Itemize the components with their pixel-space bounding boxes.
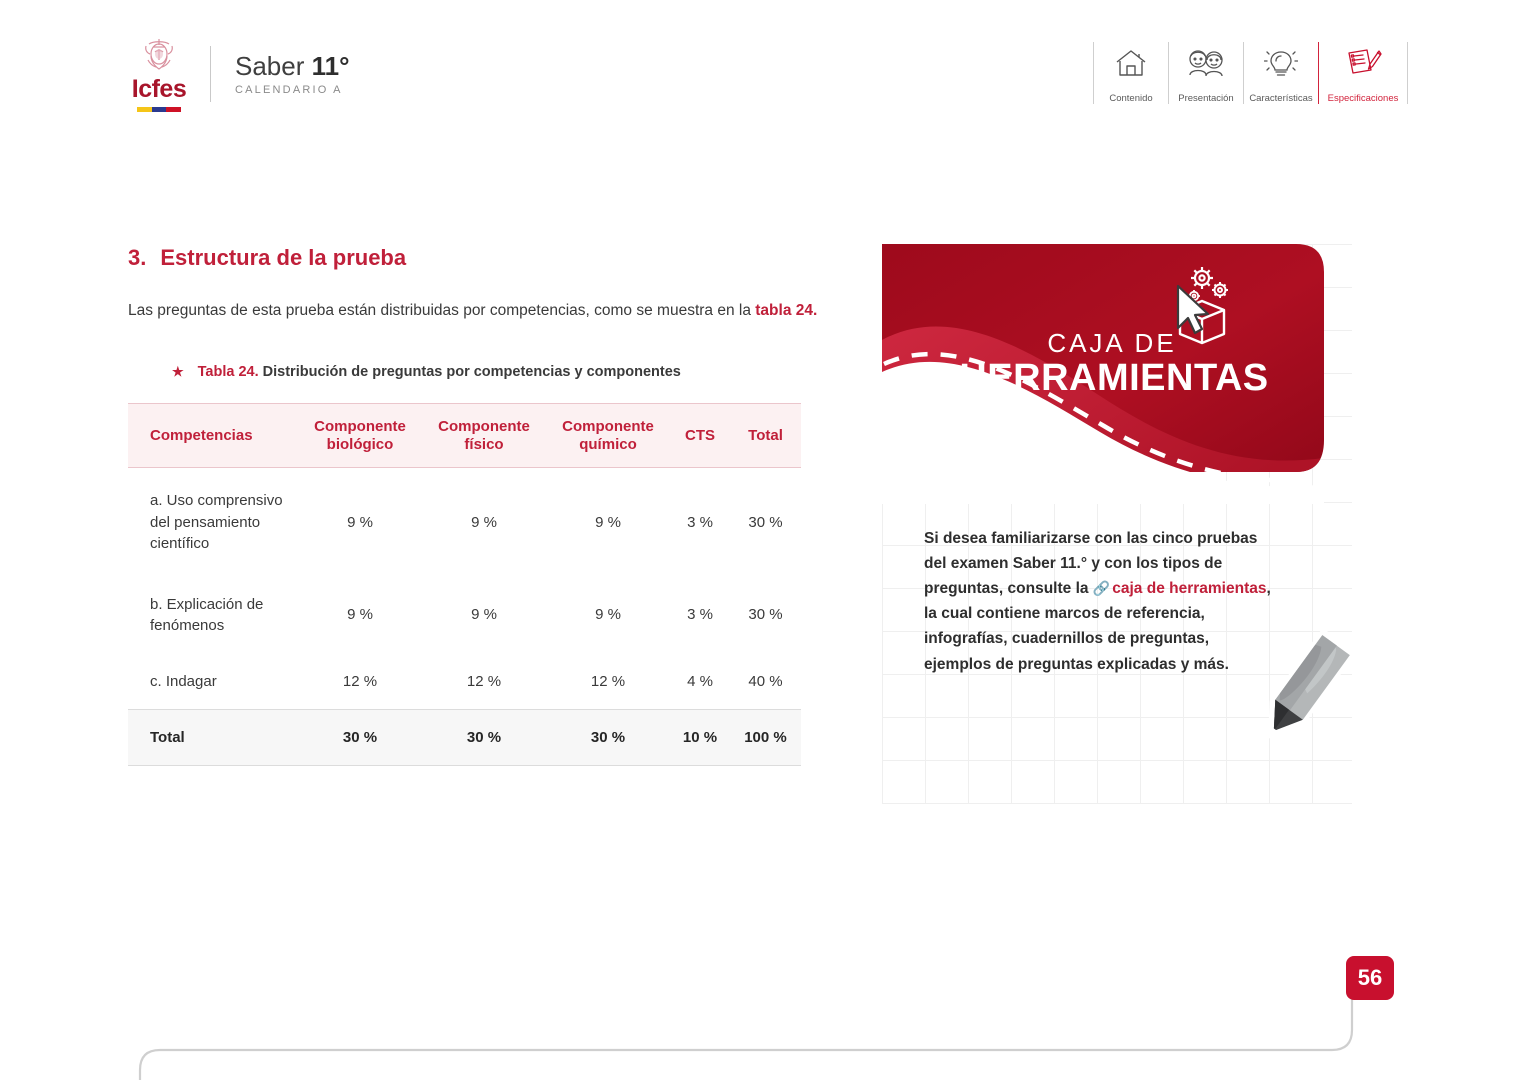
cell-fisico: 9 % bbox=[422, 468, 546, 576]
section-number: 3. bbox=[128, 245, 146, 271]
coat-of-arms-icon bbox=[140, 36, 178, 76]
nav-label-caracteristicas: Características bbox=[1249, 93, 1312, 104]
total-fisico: 30 % bbox=[422, 710, 546, 766]
cell-cts: 4 % bbox=[670, 654, 730, 710]
cell-total: 40 % bbox=[730, 654, 801, 710]
cell-biologico: 12 % bbox=[298, 654, 422, 710]
banner-line2: HERRAMIENTAS bbox=[959, 357, 1268, 399]
col-header-line1: Componente bbox=[314, 418, 406, 435]
col-header-componente-quimico: Componente químico bbox=[546, 404, 670, 468]
page-number-badge: 56 bbox=[1346, 956, 1394, 1000]
cell-total: 30 % bbox=[730, 468, 801, 576]
row-label: c. Indagar bbox=[128, 654, 298, 710]
table-row: b. Explicación de fenómenos 9 % 9 % 9 % … bbox=[128, 576, 801, 654]
table-caption-text: Tabla 24. Distribución de preguntas por … bbox=[198, 364, 681, 380]
table-row: a. Uso comprensivo del pensamiento cient… bbox=[128, 468, 801, 576]
table-caption-rest: Distribución de preguntas por competenci… bbox=[259, 364, 681, 380]
cell-quimico: 9 % bbox=[546, 576, 670, 654]
toolbox-link[interactable]: caja de herramientas bbox=[1112, 580, 1266, 597]
banner-line1: CAJA DE bbox=[1047, 328, 1176, 358]
total-label: Total bbox=[128, 710, 298, 766]
link-icon: 🔗 bbox=[1093, 580, 1110, 596]
document-page: Icfes Saber 11° CALENDARIO A bbox=[0, 0, 1530, 1080]
total-quimico: 30 % bbox=[546, 710, 670, 766]
cell-fisico: 9 % bbox=[422, 576, 546, 654]
footer-track-line bbox=[0, 940, 1530, 1080]
nav-item-presentacion[interactable]: Presentación bbox=[1169, 42, 1243, 104]
nav-item-especificaciones[interactable]: Especificaciones bbox=[1319, 42, 1407, 104]
title-bold: 11° bbox=[312, 51, 350, 81]
col-header-componente-fisico: Componente físico bbox=[422, 404, 546, 468]
top-navigation: Contenido bbox=[1093, 42, 1408, 104]
lightbulb-icon bbox=[1264, 42, 1298, 84]
brand-divider bbox=[210, 46, 211, 102]
toolbox-panel: CAJA DE HERRAMIENTAS Si desea familiariz… bbox=[882, 244, 1402, 804]
table-header-row: Competencias Componente biológico Compon… bbox=[128, 404, 801, 468]
row-label: b. Explicación de fenómenos bbox=[128, 576, 298, 654]
toolbox-callout-text: Si desea familiarizarse con las cinco pr… bbox=[924, 526, 1274, 677]
total-cts: 10 % bbox=[670, 710, 730, 766]
table-total-row: Total 30 % 30 % 30 % 10 % 100 % bbox=[128, 710, 801, 766]
col-header-componente-biologico: Componente biológico bbox=[298, 404, 422, 468]
cell-cts: 3 % bbox=[670, 576, 730, 654]
page-title: Saber 11° bbox=[235, 52, 350, 81]
nav-separator bbox=[1407, 42, 1408, 104]
distribution-table: Competencias Componente biológico Compon… bbox=[128, 403, 801, 766]
page-subtitle: CALENDARIO A bbox=[235, 84, 350, 96]
star-bullet-icon: ★ bbox=[172, 365, 184, 378]
row-label: a. Uso comprensivo del pensamiento cient… bbox=[128, 468, 298, 576]
distribution-table-wrapper: Competencias Componente biológico Compon… bbox=[128, 403, 801, 766]
toolbox-banner[interactable]: CAJA DE HERRAMIENTAS bbox=[882, 244, 1324, 492]
table-row: c. Indagar 12 % 12 % 12 % 4 % 40 % bbox=[128, 654, 801, 710]
title-main: Saber bbox=[235, 51, 312, 81]
cell-cts: 3 % bbox=[670, 468, 730, 576]
cell-biologico: 9 % bbox=[298, 468, 422, 576]
house-icon bbox=[1114, 42, 1148, 84]
cell-quimico: 9 % bbox=[546, 468, 670, 576]
col-header-line2: biológico bbox=[327, 436, 394, 453]
brand-titles: Saber 11° CALENDARIO A bbox=[235, 52, 350, 97]
clipboard-pen-icon bbox=[1343, 42, 1383, 84]
col-header-line2: físico bbox=[464, 436, 503, 453]
table-caption-number: Tabla 24. bbox=[198, 364, 259, 380]
nav-label-especificaciones: Especificaciones bbox=[1328, 93, 1399, 104]
cell-biologico: 9 % bbox=[298, 576, 422, 654]
main-content-left: 3. Estructura de la prueba Las preguntas… bbox=[128, 245, 818, 766]
col-header-line1: Componente bbox=[438, 418, 530, 435]
table-caption: ★ Tabla 24. Distribución de preguntas po… bbox=[172, 364, 818, 380]
nav-label-contenido: Contenido bbox=[1109, 93, 1152, 104]
page-header: Icfes Saber 11° CALENDARIO A bbox=[0, 0, 1530, 130]
colombia-tricolor-bar bbox=[137, 107, 181, 112]
nav-label-presentacion: Presentación bbox=[1178, 93, 1233, 104]
cell-total: 30 % bbox=[730, 576, 801, 654]
brand-lockup: Icfes Saber 11° CALENDARIO A bbox=[128, 36, 350, 112]
total-total: 100 % bbox=[730, 710, 801, 766]
icfes-wordmark: Icfes bbox=[132, 77, 186, 102]
icfes-logo: Icfes bbox=[128, 36, 190, 112]
intro-paragraph: Las preguntas de esta prueba están distr… bbox=[128, 298, 818, 324]
two-people-icon bbox=[1184, 42, 1228, 84]
section-heading: 3. Estructura de la prueba bbox=[128, 245, 818, 271]
section-title: Estructura de la prueba bbox=[160, 245, 406, 271]
page-number-value: 56 bbox=[1358, 965, 1382, 991]
total-biologico: 30 % bbox=[298, 710, 422, 766]
gray-marker-pencil-icon bbox=[1237, 622, 1367, 762]
nav-item-caracteristicas[interactable]: Características bbox=[1244, 42, 1318, 104]
col-header-total: Total bbox=[730, 404, 801, 468]
cell-quimico: 12 % bbox=[546, 654, 670, 710]
nav-item-contenido[interactable]: Contenido bbox=[1094, 42, 1168, 104]
cell-fisico: 12 % bbox=[422, 654, 546, 710]
table-reference-link[interactable]: tabla 24. bbox=[755, 302, 817, 319]
intro-text: Las preguntas de esta prueba están distr… bbox=[128, 302, 755, 319]
col-header-competencias: Competencias bbox=[128, 404, 298, 468]
col-header-cts: CTS bbox=[670, 404, 730, 468]
col-header-line1: Componente bbox=[562, 418, 654, 435]
col-header-line2: químico bbox=[579, 436, 637, 453]
